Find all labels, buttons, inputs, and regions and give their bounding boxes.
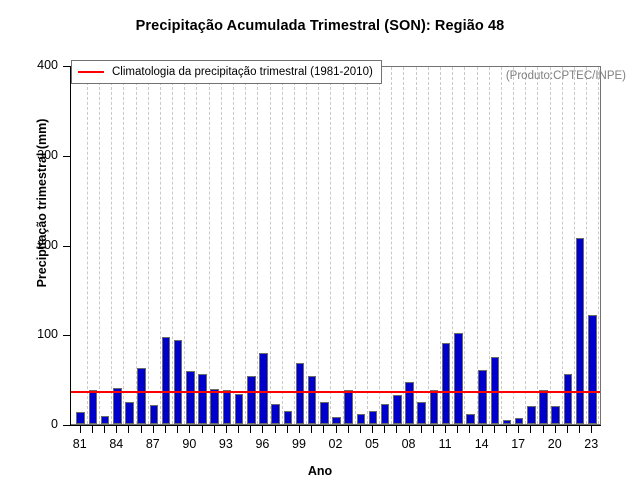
bar: [551, 406, 560, 424]
x-axis-tick: [226, 425, 227, 433]
x-axis-tick: [567, 425, 568, 433]
bar: [113, 388, 122, 424]
bar: [198, 374, 207, 424]
bar: [527, 406, 536, 424]
x-axis-tick: [482, 425, 483, 433]
bar: [332, 417, 341, 424]
x-axis-tick: [543, 425, 544, 433]
precipitation-bar-chart: Precipitação Acumulada Trimestral (SON):…: [0, 0, 640, 500]
x-axis-tick-label: 99: [279, 437, 319, 451]
bar: [137, 368, 146, 424]
x-axis-tick: [238, 425, 239, 433]
x-axis-tick: [591, 425, 592, 433]
bar: [466, 414, 475, 424]
y-axis-tick: [63, 246, 70, 247]
x-axis-tick: [530, 425, 531, 433]
y-axis-tick: [63, 156, 70, 157]
legend: Climatologia da precipitação trimestral …: [71, 60, 382, 84]
x-axis-tick: [287, 425, 288, 433]
x-axis-tick-label: 90: [169, 437, 209, 451]
x-axis-tick: [202, 425, 203, 433]
x-axis-tick: [214, 425, 215, 433]
x-axis-tick: [372, 425, 373, 433]
x-axis-tick-label: 93: [206, 437, 246, 451]
x-axis-tick-label: 96: [242, 437, 282, 451]
x-axis-tick: [457, 425, 458, 433]
x-axis-tick: [153, 425, 154, 433]
x-axis-tick: [518, 425, 519, 433]
plot-area: [70, 66, 601, 425]
x-axis-tick-label: 81: [60, 437, 100, 451]
x-axis-tick: [299, 425, 300, 433]
bar: [539, 390, 548, 424]
bar: [405, 382, 414, 424]
bar: [271, 404, 280, 424]
bar: [357, 414, 366, 424]
x-axis-tick: [506, 425, 507, 433]
x-axis-tick-label: 17: [498, 437, 538, 451]
x-axis-tick: [189, 425, 190, 433]
x-axis-tick-label: 20: [535, 437, 575, 451]
bar: [576, 238, 585, 424]
x-axis-tick: [579, 425, 580, 433]
y-axis-tick-label: 100: [8, 328, 58, 341]
x-axis-tick: [275, 425, 276, 433]
x-axis-tick: [555, 425, 556, 433]
bar: [564, 374, 573, 424]
bar: [125, 402, 134, 424]
bar: [284, 411, 293, 424]
x-axis-tick: [323, 425, 324, 433]
x-axis-tick: [116, 425, 117, 433]
x-axis-tick-label: 87: [133, 437, 173, 451]
x-axis-tick-label: 11: [425, 437, 465, 451]
bar: [223, 390, 232, 424]
x-axis-tick: [80, 425, 81, 433]
bar: [210, 389, 219, 424]
x-axis-tick: [433, 425, 434, 433]
x-axis-tick-label: 02: [316, 437, 356, 451]
y-axis-tick-label: 0: [8, 418, 58, 431]
bar: [369, 411, 378, 424]
y-axis-tick-label: 400: [8, 59, 58, 72]
x-axis-tick: [348, 425, 349, 433]
y-axis-tick: [63, 425, 70, 426]
legend-label: Climatologia da precipitação trimestral …: [112, 66, 373, 78]
x-axis-tick: [250, 425, 251, 433]
bar: [588, 315, 597, 424]
bar: [247, 376, 256, 424]
x-axis-tick: [384, 425, 385, 433]
bar: [442, 343, 451, 424]
bar: [478, 370, 487, 424]
bars-layer: [71, 67, 600, 424]
bar: [344, 390, 353, 424]
bar: [89, 390, 98, 424]
y-axis-tick: [63, 66, 70, 67]
bar: [515, 418, 524, 424]
x-axis-title: Ano: [0, 464, 640, 478]
bar: [600, 401, 601, 424]
bar: [381, 404, 390, 424]
bar: [430, 390, 439, 424]
y-axis-tick-label: 300: [8, 149, 58, 162]
bar: [259, 353, 268, 424]
climatology-reference-line: [71, 391, 600, 393]
chart-title: Precipitação Acumulada Trimestral (SON):…: [0, 18, 640, 34]
x-axis-tick-label: 84: [96, 437, 136, 451]
x-axis-tick-label: 14: [462, 437, 502, 451]
bar: [150, 405, 159, 424]
x-axis-tick: [311, 425, 312, 433]
bar: [417, 402, 426, 424]
bar: [454, 333, 463, 424]
x-axis-tick: [360, 425, 361, 433]
bar: [76, 412, 85, 424]
bar: [308, 376, 317, 424]
y-axis-tick: [63, 335, 70, 336]
x-axis-tick: [128, 425, 129, 433]
x-axis-tick: [104, 425, 105, 433]
bar: [503, 420, 512, 424]
x-axis-tick: [409, 425, 410, 433]
bar: [186, 371, 195, 424]
x-axis-tick: [92, 425, 93, 433]
bar: [174, 340, 183, 424]
y-axis-spine: [70, 66, 71, 425]
x-axis-tick: [421, 425, 422, 433]
y-axis-title: Precipitação trimestral (mm): [35, 83, 49, 323]
product-watermark: (Produto:CPTEC/INPE): [506, 70, 626, 82]
x-axis-tick: [141, 425, 142, 433]
x-axis-tick: [165, 425, 166, 433]
x-axis-tick: [494, 425, 495, 433]
x-axis-tick: [469, 425, 470, 433]
x-axis-tick: [262, 425, 263, 433]
x-axis-tick-label: 05: [352, 437, 392, 451]
bar: [235, 394, 244, 424]
x-axis-tick: [396, 425, 397, 433]
bar: [393, 395, 402, 424]
x-axis-tick: [177, 425, 178, 433]
x-axis-tick-label: 23: [571, 437, 611, 451]
bar: [296, 363, 305, 424]
x-axis-tick: [336, 425, 337, 433]
bar: [101, 416, 110, 424]
legend-line-swatch-icon: [78, 71, 104, 73]
bar: [162, 337, 171, 424]
x-axis-tick: [445, 425, 446, 433]
bar: [320, 402, 329, 424]
y-axis-tick-label: 200: [8, 239, 58, 252]
x-axis-tick-label: 08: [389, 437, 429, 451]
